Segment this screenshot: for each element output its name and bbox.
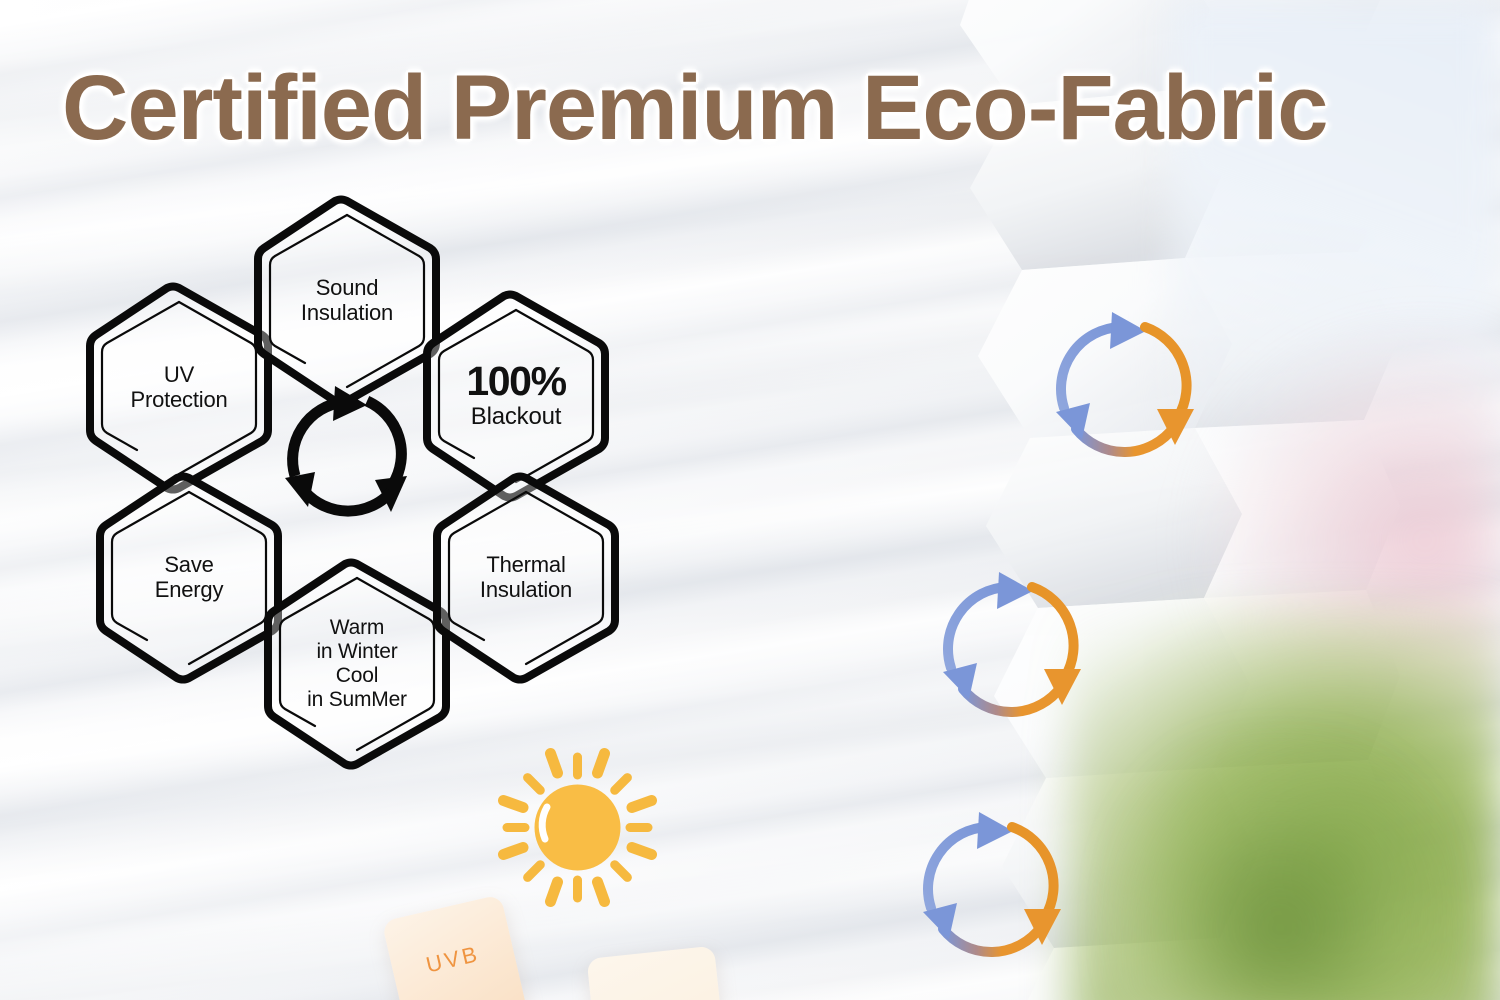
recycle-arrows-icon xyxy=(1048,305,1213,470)
hexagon-uv-protection[interactable]: UV Protection xyxy=(85,282,273,494)
feature-hexagon-cluster: UV Protection Sound Insulation 100% Blac… xyxy=(85,190,655,760)
blackout-percent: 100% xyxy=(466,361,565,403)
hexagon-sound-insulation[interactable]: Sound Insulation xyxy=(253,195,441,407)
hexagon-label: Warm in Winter Cool in SumMer xyxy=(263,558,451,770)
hexagon-label: Sound Insulation xyxy=(253,195,441,407)
background-garden-blur-secondary xyxy=(1130,760,1430,1000)
hexagon-label-group: 100% Blackout xyxy=(422,290,610,502)
recycle-arrows-svg xyxy=(915,805,1080,970)
uv-card-label xyxy=(591,985,718,998)
blackout-sublabel: Blackout xyxy=(471,404,561,431)
cycle-arrows-svg xyxy=(275,380,425,530)
sun-icon-svg xyxy=(495,745,660,910)
hexagon-save-energy[interactable]: Save Energy xyxy=(95,472,283,684)
page-title: Certified Premium Eco-Fabric xyxy=(62,62,1362,154)
hexagon-label: UV Protection xyxy=(85,282,273,494)
recycle-arrows-svg xyxy=(1048,305,1213,470)
hexagon-warm-cool[interactable]: Warm in Winter Cool in SumMer xyxy=(263,558,451,770)
hexagon-thermal-insulation[interactable]: Thermal Insulation xyxy=(432,472,620,684)
promo-banner: Certified Premium Eco-Fabric UV Protecti… xyxy=(0,0,1500,1000)
cycle-arrows-icon xyxy=(275,380,425,530)
recycle-arrows-icon xyxy=(935,565,1100,730)
recycle-arrows-svg xyxy=(935,565,1100,730)
uv-card-label: UVB xyxy=(391,933,516,986)
hexagon-label: Save Energy xyxy=(95,472,283,684)
recycle-arrows-icon xyxy=(915,805,1080,970)
hexagon-label: Thermal Insulation xyxy=(432,472,620,684)
sun-icon xyxy=(495,745,660,910)
hexagon-blackout[interactable]: 100% Blackout xyxy=(422,290,610,502)
